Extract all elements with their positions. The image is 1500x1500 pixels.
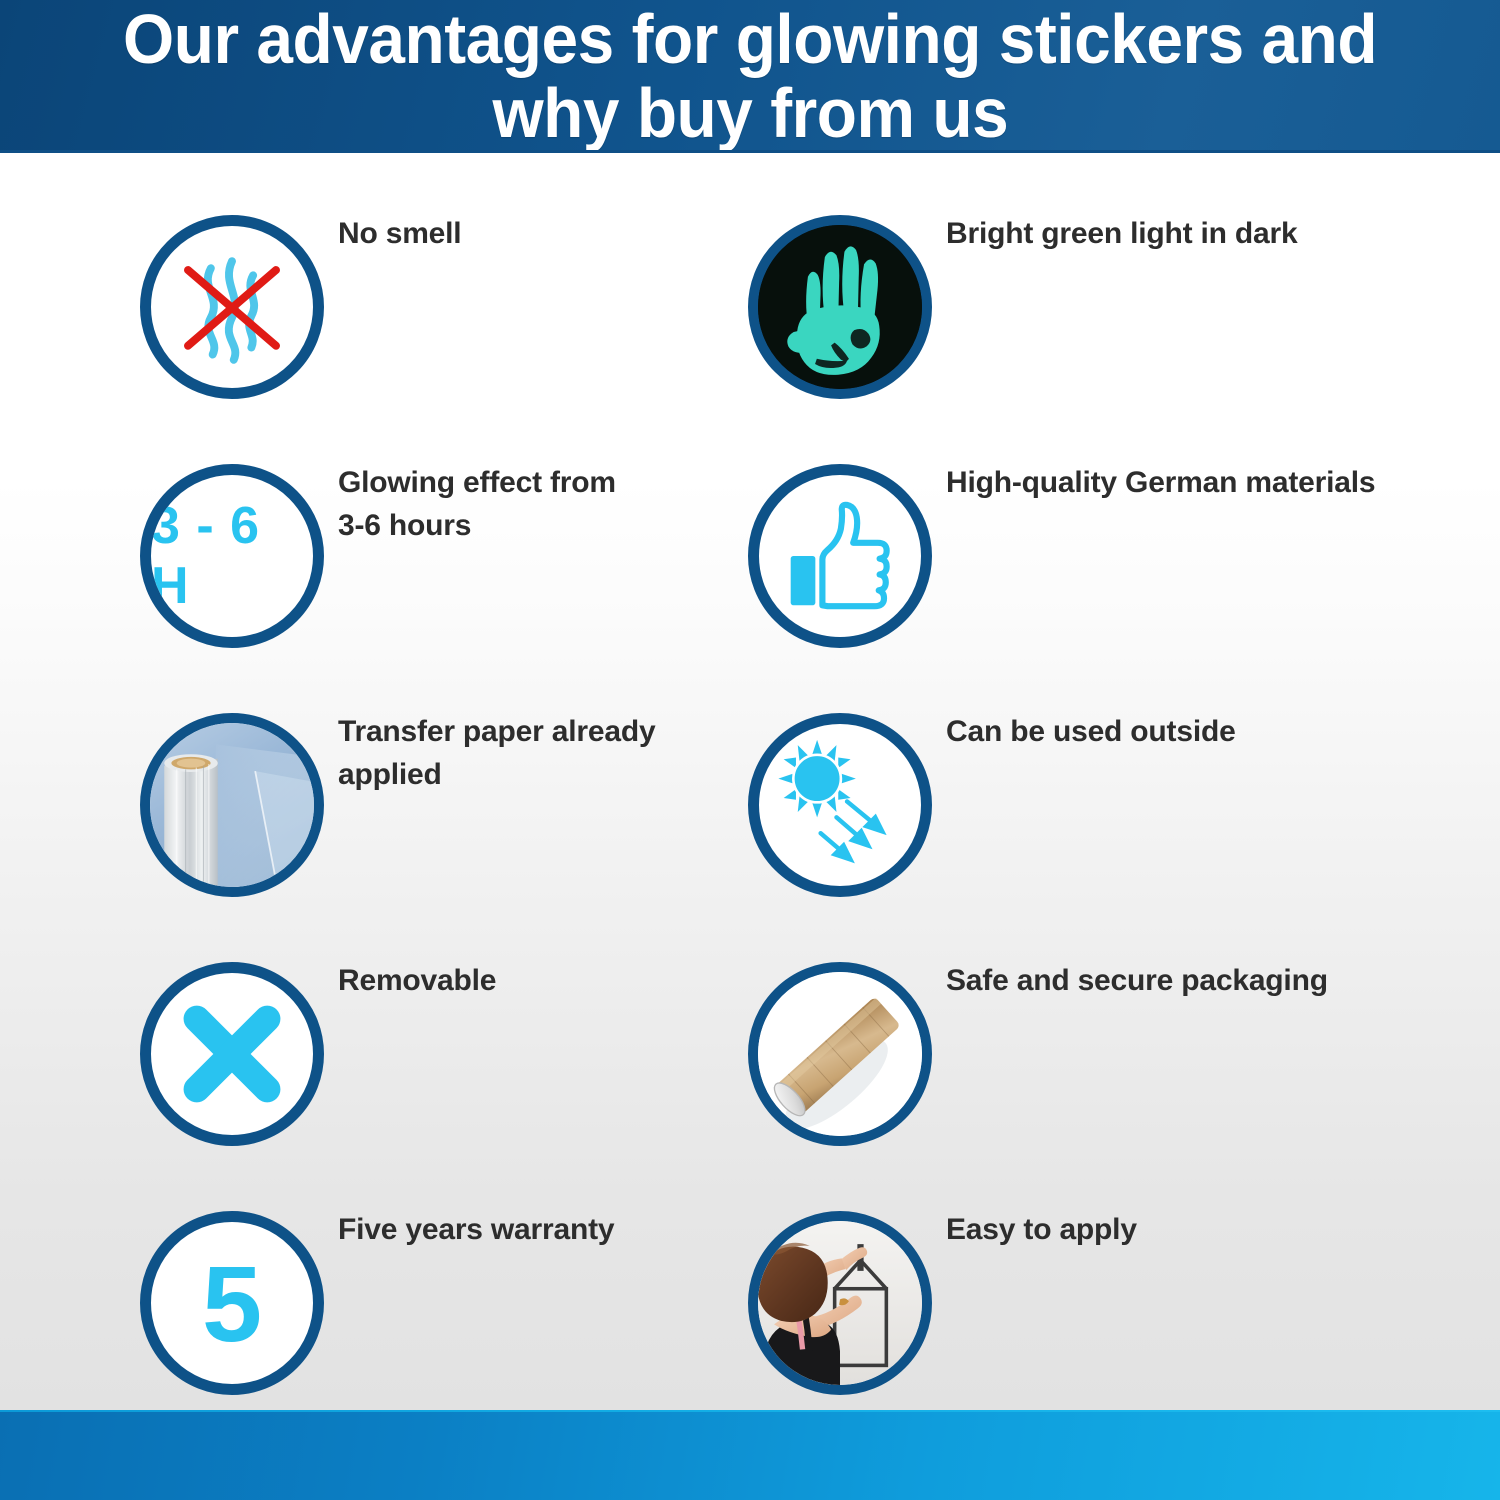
feature-label-safe-packaging: Safe and secure packaging	[946, 959, 1386, 1002]
feature-item-outside-use: Can be used outside	[748, 694, 1388, 934]
feature-item-five-years-warranty: 5 Five years warranty	[140, 1192, 780, 1432]
mailing-tube-icon	[748, 962, 932, 1146]
feature-item-safe-packaging: Safe and secure packaging	[748, 943, 1388, 1183]
header-banner: Our advantages for glowing stickers and …	[0, 0, 1500, 152]
feature-label-outside-use: Can be used outside	[946, 710, 1386, 753]
features-grid: No smell	[0, 196, 1500, 1396]
page-title-line-2: why buy from us	[492, 76, 1008, 150]
feature-label-bright-green-light: Bright green light in dark	[946, 212, 1386, 255]
woman-applying-sticker-icon	[748, 1211, 932, 1395]
feature-item-easy-to-apply: Easy to apply	[748, 1192, 1388, 1432]
number-five-icon: 5	[140, 1211, 324, 1395]
feature-label-glowing-effect-hours: Glowing effect from 3-6 hours	[338, 461, 778, 547]
number-five-text: 5	[151, 1222, 313, 1384]
feature-item-glowing-effect-hours: 3 - 6 H Glowing effect from 3-6 hours	[140, 445, 780, 685]
feature-item-no-smell: No smell	[140, 196, 780, 436]
feature-label-five-years-warranty: Five years warranty	[338, 1208, 778, 1251]
header-title-block: Our advantages for glowing stickers and …	[0, 0, 1500, 152]
feature-label-line-1: Glowing effect from	[338, 461, 778, 504]
feature-label-line-2: 3-6 hours	[338, 504, 778, 547]
feature-label-no-smell: No smell	[338, 212, 778, 255]
feature-label-german-materials: High-quality German materials	[946, 461, 1386, 504]
sun-rays-icon	[748, 713, 932, 897]
feature-label-line-1: Transfer paper already	[338, 710, 778, 753]
page-title-line-1: Our advantages for glowing stickers and	[123, 2, 1377, 76]
transfer-film-roll-icon	[140, 713, 324, 897]
no-smell-icon	[140, 215, 324, 399]
header-bottom-edge	[0, 150, 1500, 153]
hours-3-6-text: 3 - 6 H	[151, 475, 313, 637]
hours-3-6-icon: 3 - 6 H	[140, 464, 324, 648]
feature-label-removable: Removable	[338, 959, 778, 1002]
infographic-page: Our advantages for glowing stickers and …	[0, 0, 1500, 1500]
feature-item-transfer-paper: Transfer paper already applied	[140, 694, 780, 934]
thumbs-up-icon	[748, 464, 932, 648]
feature-item-german-materials: High-quality German materials	[748, 445, 1388, 685]
feature-label-easy-to-apply: Easy to apply	[946, 1208, 1386, 1251]
feature-label-line-2: applied	[338, 753, 778, 796]
cross-x-icon	[140, 962, 324, 1146]
footer-banner	[0, 1412, 1500, 1500]
feature-item-bright-green-light: Bright green light in dark	[748, 196, 1388, 436]
feature-label-transfer-paper: Transfer paper already applied	[338, 710, 778, 796]
glowing-handprint-icon	[748, 215, 932, 399]
feature-item-removable: Removable	[140, 943, 780, 1183]
